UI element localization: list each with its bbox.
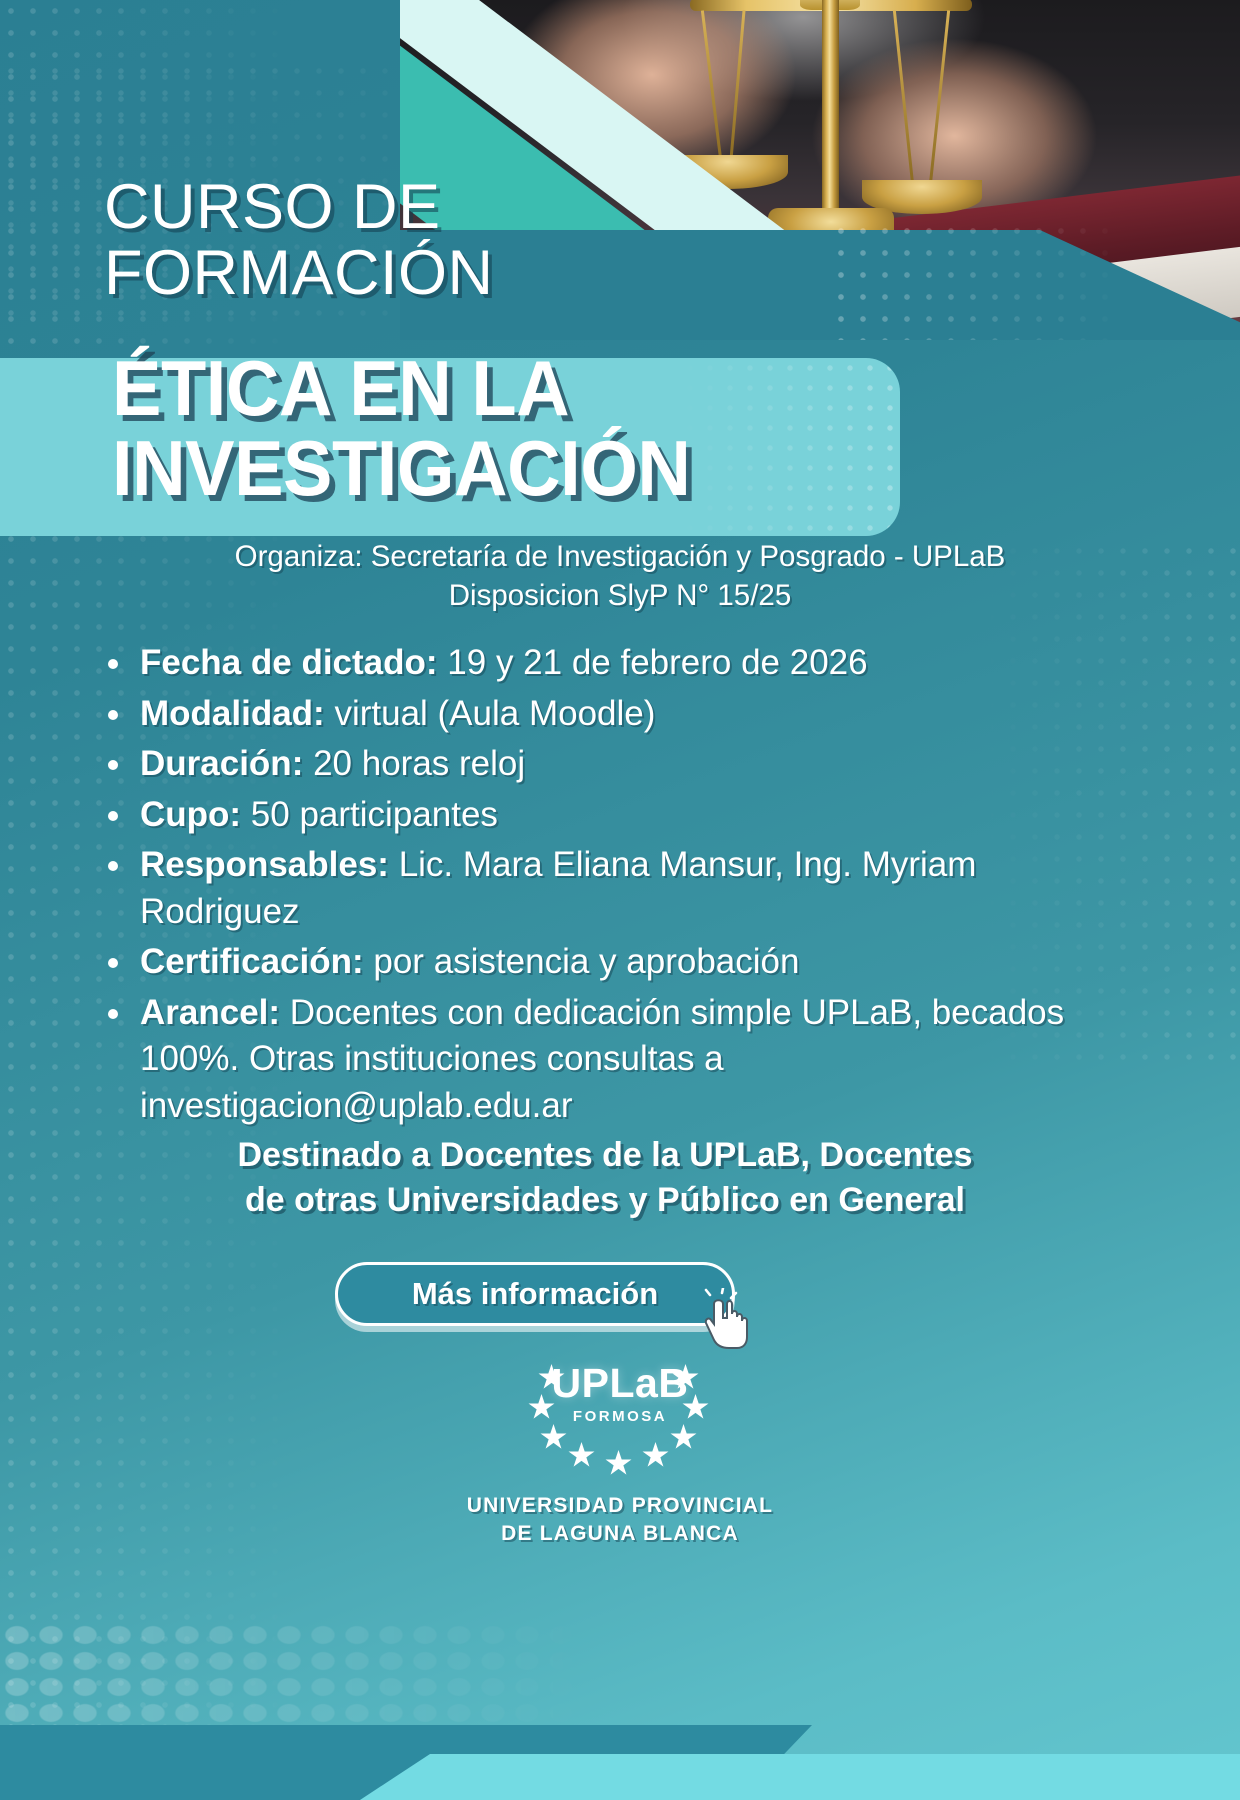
logo-star-icon xyxy=(540,1424,567,1451)
list-item: Arancel: Docentes con dedicación simple … xyxy=(100,990,1100,1130)
page-title: ÉTICA EN LA INVESTIGACIÓN xyxy=(112,348,1005,509)
organizer-line-2: Disposicion SlyP N° 15/25 xyxy=(0,577,1240,616)
poster-root: CURSO DE FORMACIÓN ÉTICA EN LA INVESTIGA… xyxy=(0,0,1240,1800)
detail-label: Responsables: xyxy=(140,845,389,884)
detail-label: Arancel: xyxy=(140,993,280,1032)
kicker-line-2: FORMACIÓN xyxy=(104,241,804,307)
detail-value: 19 y 21 de febrero de 2026 xyxy=(438,643,868,682)
detail-label: Certificación: xyxy=(140,942,364,981)
list-item: Responsables: Lic. Mara Eliana Mansur, I… xyxy=(100,842,1100,935)
logo-star-icon xyxy=(642,1442,669,1469)
university-name: UNIVERSIDAD PROVINCIAL DE LAGUNA BLANCA xyxy=(0,1492,1240,1549)
audience-line-2: de otras Universidades y Público en Gene… xyxy=(100,1178,1110,1223)
list-item: Modalidad: virtual (Aula Moodle) xyxy=(100,691,1100,738)
more-info-button[interactable]: Más información xyxy=(335,1262,735,1326)
course-details-list: Fecha de dictado: 19 y 21 de febrero de … xyxy=(100,640,1100,1129)
course-details: Fecha de dictado: 19 y 21 de febrero de … xyxy=(100,640,1100,1133)
list-item: Fecha de dictado: 19 y 21 de febrero de … xyxy=(100,640,1100,687)
detail-value: 20 horas reloj xyxy=(303,744,525,783)
title-line-2: INVESTIGACIÓN xyxy=(112,428,1005,508)
audience-line-1: Destinado a Docentes de la UPLaB, Docent… xyxy=(100,1133,1110,1178)
list-item: Cupo: 50 participantes xyxy=(100,792,1100,839)
detail-label: Fecha de dictado: xyxy=(140,643,438,682)
footer-bands xyxy=(0,1725,1240,1800)
detail-label: Modalidad: xyxy=(140,694,325,733)
kicker-line-1: CURSO DE xyxy=(104,175,804,241)
page-kicker: CURSO DE FORMACIÓN xyxy=(104,175,804,306)
detail-label: Cupo: xyxy=(140,795,241,834)
logo-star-icon xyxy=(670,1424,697,1451)
university-logo: UPLaB FORMOSA UNIVERSIDAD PROVINCIAL DE … xyxy=(0,1356,1240,1549)
detail-value: por asistencia y aprobación xyxy=(364,942,800,981)
organizer-line-1: Organiza: Secretaría de Investigación y … xyxy=(0,538,1240,577)
logo-mark: UPLaB FORMOSA xyxy=(510,1356,730,1468)
title-line-1: ÉTICA EN LA xyxy=(112,348,1005,428)
university-name-line-1: UNIVERSIDAD PROVINCIAL xyxy=(0,1492,1240,1520)
university-name-line-2: DE LAGUNA BLANCA xyxy=(0,1520,1240,1548)
pointer-hand-cursor-icon xyxy=(700,1288,754,1350)
more-info-button-label: Más información xyxy=(412,1276,658,1312)
detail-label: Duración: xyxy=(140,744,303,783)
logo-star-icon xyxy=(605,1450,632,1477)
audience-note: Destinado a Docentes de la UPLaB, Docent… xyxy=(100,1133,1110,1223)
photo-halftone-dots xyxy=(830,220,1130,340)
list-item: Certificación: por asistencia y aprobaci… xyxy=(100,939,1100,986)
detail-value: virtual (Aula Moodle) xyxy=(325,694,656,733)
detail-value: 50 participantes xyxy=(241,795,498,834)
logo-star-icon xyxy=(568,1442,595,1469)
list-item: Duración: 20 horas reloj xyxy=(100,741,1100,788)
organizer-block: Organiza: Secretaría de Investigación y … xyxy=(0,538,1240,616)
